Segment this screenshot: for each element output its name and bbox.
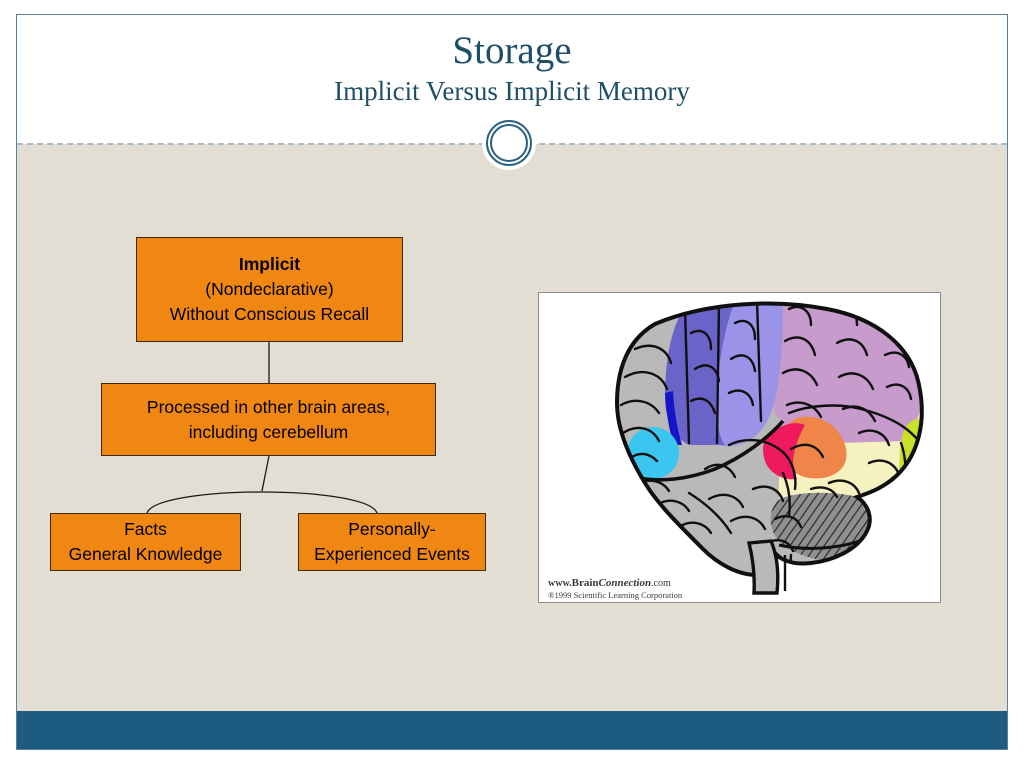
diagram-box-facts[interactable]: Facts General Knowledge (50, 513, 241, 571)
ring-inner (490, 124, 528, 162)
footer-band (17, 711, 1007, 749)
box-implicit-line1: Implicit (239, 252, 300, 277)
box-implicit-line3: Without Conscious Recall (170, 302, 369, 327)
brain-image-panel: www.BrainConnection.com ®1999 Scientific… (538, 292, 941, 603)
box-facts-line2: General Knowledge (69, 542, 223, 567)
box-personally-line2: Experienced Events (314, 542, 470, 567)
box-facts-line1: Facts (124, 517, 167, 542)
brain-image-credit: www.BrainConnection.com ®1999 Scientific… (548, 577, 682, 600)
slide: Storage Implicit Versus Implicit Memory … (16, 14, 1008, 750)
brain-diagram-icon (539, 293, 941, 603)
diagram-box-processed[interactable]: Processed in other brain areas, includin… (101, 383, 436, 456)
page-title: Storage (17, 28, 1007, 74)
page-subtitle: Implicit Versus Implicit Memory (17, 75, 1007, 108)
box-implicit-line2: (Nondeclarative) (205, 277, 333, 302)
credit-brain: Brain (572, 577, 599, 589)
credit-com: .com (651, 578, 671, 589)
credit-connection: Connection (599, 577, 652, 589)
credit-www: www. (548, 578, 572, 589)
box-processed-line1: Processed in other brain areas, (147, 395, 390, 420)
circle-ornament-icon (482, 116, 536, 170)
box-personally-line1: Personally- (348, 517, 436, 542)
diagram-box-implicit[interactable]: Implicit (Nondeclarative) Without Consci… (136, 237, 403, 342)
credit-copyright: ®1999 Scientific Learning Corporation (548, 591, 682, 601)
diagram-box-personally-experienced[interactable]: Personally- Experienced Events (298, 513, 486, 571)
box-processed-line2: including cerebellum (189, 420, 349, 445)
